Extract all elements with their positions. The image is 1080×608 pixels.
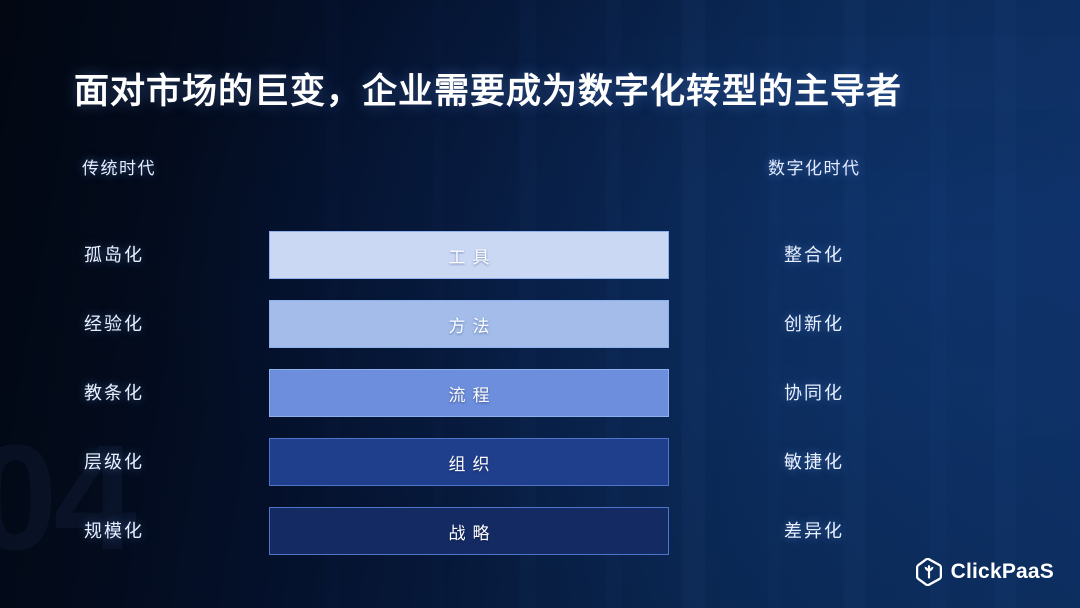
table-row: 孤岛化 工具 整合化 — [0, 231, 1080, 279]
center-bar[interactable]: 方法 — [269, 300, 669, 348]
table-row: 教条化 流程 协同化 — [0, 369, 1080, 417]
left-label: 规模化 — [84, 507, 144, 555]
center-bar[interactable]: 工具 — [269, 231, 669, 279]
column-header-digital: 数字化时代 — [768, 154, 861, 179]
center-bar-label: 流程 — [442, 381, 497, 406]
table-row: 规模化 战略 差异化 — [0, 507, 1080, 555]
clickpaas-logo: ClickPaaS — [916, 558, 1054, 586]
center-bar-label: 方法 — [442, 312, 497, 337]
center-bar[interactable]: 流程 — [269, 369, 669, 417]
left-label: 孤岛化 — [84, 231, 144, 279]
center-bar-label: 战略 — [442, 519, 497, 544]
right-label: 差异化 — [784, 507, 844, 555]
clickpaas-hexagon-icon — [916, 558, 942, 586]
slide-canvas: 04 面对市场的巨变，企业需要成为数字化转型的主导者 传统时代 数字化时代 孤岛… — [0, 0, 1080, 608]
right-label: 协同化 — [784, 369, 844, 417]
left-label: 教条化 — [84, 369, 144, 417]
right-label: 创新化 — [784, 300, 844, 348]
left-label: 层级化 — [84, 438, 144, 486]
table-row: 经验化 方法 创新化 — [0, 300, 1080, 348]
left-label: 经验化 — [84, 300, 144, 348]
slide-title: 面对市场的巨变，企业需要成为数字化转型的主导者 — [74, 63, 902, 114]
column-header-traditional: 传统时代 — [82, 154, 156, 179]
right-label: 敏捷化 — [784, 438, 844, 486]
center-bar[interactable]: 战略 — [269, 507, 669, 555]
table-row: 层级化 组织 敏捷化 — [0, 438, 1080, 486]
center-bar[interactable]: 组织 — [269, 438, 669, 486]
right-label: 整合化 — [784, 231, 844, 279]
center-bar-label: 工具 — [442, 243, 497, 268]
comparison-rows: 孤岛化 工具 整合化 经验化 方法 创新化 教条化 流程 协同化 层级化 组织 — [0, 231, 1080, 555]
center-bar-label: 组织 — [442, 450, 497, 475]
clickpaas-wordmark: ClickPaaS — [951, 560, 1054, 584]
